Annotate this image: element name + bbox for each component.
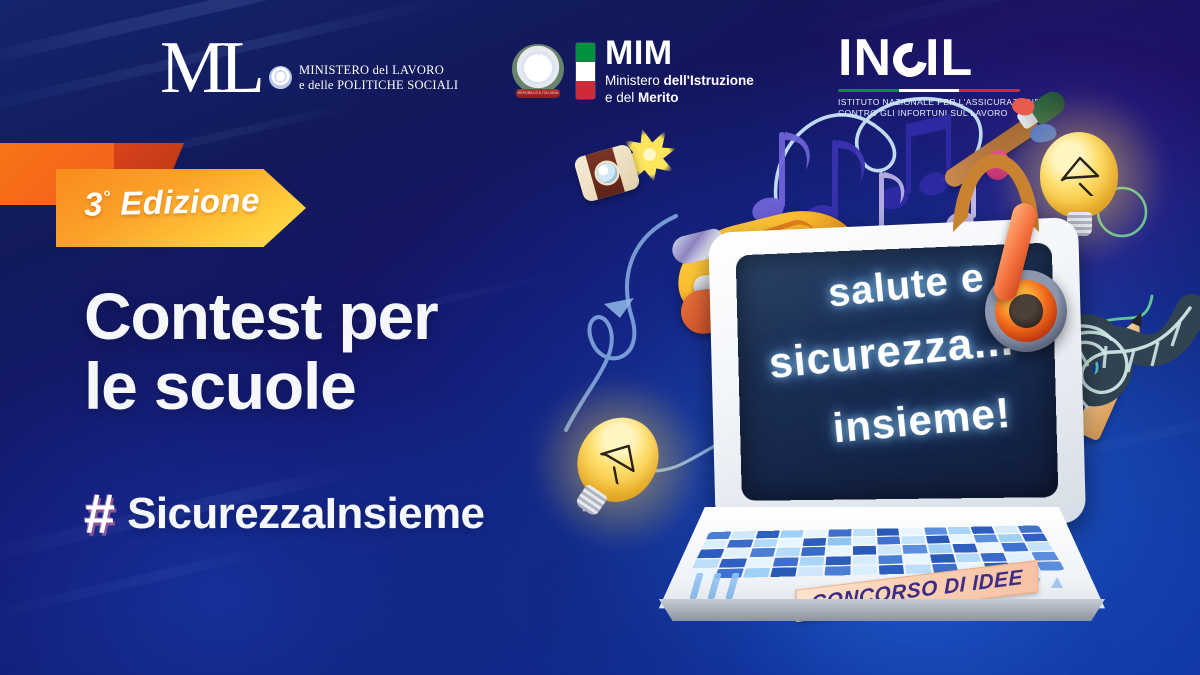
inail-wordmark: IN IL	[838, 32, 1038, 84]
ml-monogram: ML	[160, 40, 259, 98]
hash-symbol-icon: #	[84, 486, 113, 542]
mim-line1-light: Ministero	[605, 73, 664, 88]
laptop-base: CONCORSO DI IDEE	[645, 507, 1105, 637]
camera-icon	[573, 143, 641, 203]
keyboard-side-keys	[689, 573, 739, 599]
mim-line1-bold: dell'Istruzione	[664, 73, 754, 88]
hashtag-text: SicurezzaInsieme	[127, 489, 484, 539]
edition-ribbon: 3° Edizione	[0, 143, 314, 247]
ministero-lavoro-name: MINISTERO del LAVORO e delle POLITICHE S…	[299, 63, 458, 93]
degree-symbol: °	[102, 187, 110, 207]
edition-number: 3	[84, 185, 104, 222]
edition-label: 3° Edizione	[84, 180, 295, 223]
edition-word: Edizione	[120, 181, 261, 222]
poster-background: ML MINISTERO del LAVORO e delle POLITICH…	[0, 0, 1200, 675]
illustration-scene: salute e sicurezza... insieme! CONCORSO …	[540, 90, 1200, 675]
bg-streak	[0, 545, 273, 622]
italian-republic-emblem-icon	[269, 66, 292, 89]
inail-part1: IN	[838, 32, 892, 84]
mim-acronym: MIM	[605, 36, 754, 70]
inail-part2: IL	[925, 32, 973, 84]
headline-line-1: Contest per	[84, 282, 554, 352]
ministero-lavoro-line2: e delle POLITICHE SOCIALI	[299, 78, 458, 93]
screen-line-3: insieme!	[763, 382, 1058, 459]
headline-line-2: le scuole	[84, 352, 554, 422]
ministero-lavoro-line1: MINISTERO del LAVORO	[299, 63, 458, 78]
hashtag-block: # SicurezzaInsieme	[84, 486, 484, 542]
headphones-icon	[935, 150, 1065, 320]
page-title: Contest per le scuole	[84, 282, 554, 422]
logo-ministero-lavoro: ML MINISTERO del LAVORO e delle POLITICH…	[160, 40, 458, 98]
